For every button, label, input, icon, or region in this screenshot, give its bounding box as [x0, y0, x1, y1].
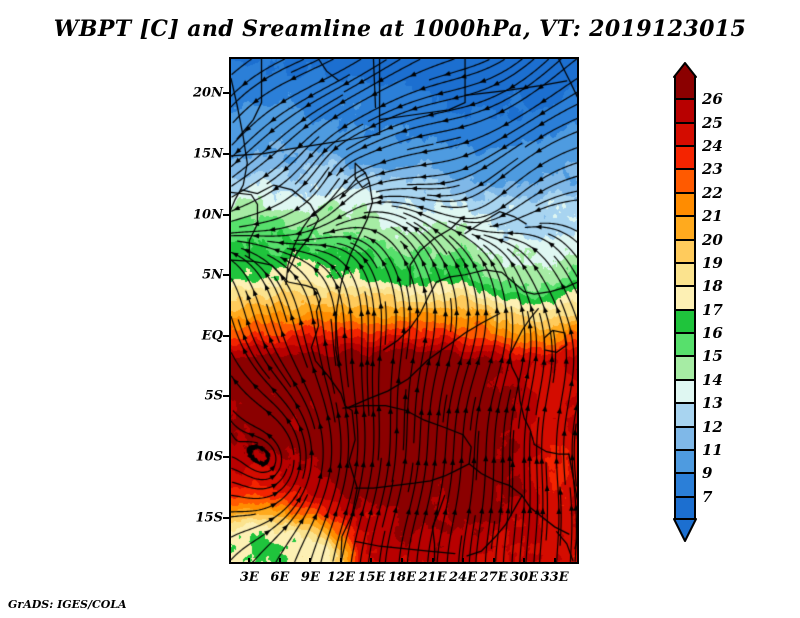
colorbar-tick-label: 7	[702, 488, 712, 506]
y-axis-tick-mark	[223, 517, 229, 519]
x-axis-tick-label: 27E	[480, 570, 508, 585]
colorbar-tick-label: 23	[702, 160, 723, 178]
y-axis-tick-label: 10N	[193, 207, 223, 222]
colorbar-segment	[674, 99, 696, 122]
colorbar-divider	[674, 402, 696, 404]
colorbar-divider	[674, 168, 696, 170]
y-axis-tick-label: 5N	[202, 268, 223, 283]
colorbar-divider	[674, 496, 696, 498]
y-axis-tick-mark	[223, 92, 229, 94]
weather-field-canvas	[231, 59, 577, 562]
y-axis-tick-label: 20N	[193, 86, 223, 101]
colorbar-tick-label: 12	[702, 418, 723, 436]
colorbar-segment	[674, 310, 696, 333]
colorbar-segment	[674, 193, 696, 216]
y-axis-tick-mark	[223, 274, 229, 276]
colorbar-tick-label: 25	[702, 114, 723, 132]
x-axis-tick-label: 21E	[419, 570, 447, 585]
colorbar-tick-label: 17	[702, 301, 723, 319]
x-axis-tick-mark	[309, 558, 311, 564]
colorbar-tick-label: 9	[702, 464, 712, 482]
colorbar-tick-label: 14	[702, 371, 723, 389]
x-axis-tick-mark	[493, 558, 495, 564]
colorbar-tick-label: 16	[702, 324, 723, 342]
colorbar: 2625242322212019181716151413121197	[674, 76, 696, 520]
map-plot-area	[229, 57, 579, 564]
colorbar-tick-label: 21	[702, 207, 723, 225]
colorbar-segment	[674, 76, 696, 99]
credit-text: GrADS: IGES/COLA	[8, 598, 127, 611]
colorbar-segment	[674, 333, 696, 356]
colorbar-tick-label: 13	[702, 394, 723, 412]
x-axis-tick-mark	[554, 558, 556, 564]
colorbar-segment	[674, 356, 696, 379]
colorbar-divider	[674, 449, 696, 451]
y-axis-tick-mark	[223, 214, 229, 216]
colorbar-min-arrow-icon	[672, 518, 698, 542]
colorbar-divider	[674, 472, 696, 474]
colorbar-segment	[674, 263, 696, 286]
colorbar-segment	[674, 473, 696, 496]
colorbar-divider	[674, 215, 696, 217]
colorbar-divider	[674, 239, 696, 241]
x-axis-tick-mark	[340, 558, 342, 564]
x-axis-tick-mark	[370, 558, 372, 564]
y-axis-tick-label: 5S	[205, 389, 223, 404]
colorbar-tick-label: 26	[702, 90, 723, 108]
x-axis-tick-mark	[523, 558, 525, 564]
colorbar-divider	[674, 332, 696, 334]
colorbar-tick-label: 18	[702, 277, 723, 295]
colorbar-divider	[674, 262, 696, 264]
colorbar-segment	[674, 216, 696, 239]
colorbar-tick-label: 22	[702, 184, 723, 202]
colorbar-segment	[674, 497, 696, 520]
colorbar-segment	[674, 286, 696, 309]
x-axis-tick-mark	[248, 558, 250, 564]
x-axis-tick-mark	[462, 558, 464, 564]
colorbar-divider	[674, 379, 696, 381]
x-axis-tick-label: 33E	[541, 570, 569, 585]
y-axis-tick-mark	[223, 395, 229, 397]
colorbar-segment	[674, 169, 696, 192]
y-axis-tick-mark	[223, 335, 229, 337]
colorbar-segment	[674, 427, 696, 450]
x-axis: 3E6E9E12E15E18E21E24E27E30E33E	[229, 564, 575, 584]
y-axis-tick-label: 10S	[196, 449, 223, 464]
colorbar-divider	[674, 192, 696, 194]
x-axis-tick-label: 15E	[357, 570, 385, 585]
colorbar-divider	[674, 309, 696, 311]
colorbar-divider	[674, 355, 696, 357]
y-axis-tick-label: EQ	[202, 328, 223, 343]
colorbar-segment	[674, 146, 696, 169]
y-axis-tick-label: 15S	[196, 510, 223, 525]
colorbar-divider	[674, 98, 696, 100]
colorbar-tick-label: 24	[702, 137, 723, 155]
x-axis-tick-label: 9E	[301, 570, 320, 585]
colorbar-segment	[674, 380, 696, 403]
colorbar-divider	[674, 122, 696, 124]
colorbar-segment	[674, 123, 696, 146]
colorbar-segment	[674, 450, 696, 473]
x-axis-tick-mark	[401, 558, 403, 564]
colorbar-segment	[674, 240, 696, 263]
colorbar-divider	[674, 426, 696, 428]
colorbar-tick-label: 15	[702, 347, 723, 365]
x-axis-tick-mark	[279, 558, 281, 564]
x-axis-tick-label: 24E	[449, 570, 477, 585]
x-axis-tick-label: 12E	[327, 570, 355, 585]
colorbar-tick-label: 11	[702, 441, 723, 459]
x-axis-tick-label: 3E	[240, 570, 259, 585]
colorbar-tick-label: 19	[702, 254, 723, 272]
x-axis-tick-label: 30E	[510, 570, 538, 585]
colorbar-tick-label: 20	[702, 231, 723, 249]
y-axis-tick-mark	[223, 456, 229, 458]
y-axis-tick-label: 15N	[193, 146, 223, 161]
x-axis-tick-mark	[432, 558, 434, 564]
colorbar-divider	[674, 145, 696, 147]
y-axis-tick-mark	[223, 153, 229, 155]
x-axis-tick-label: 6E	[270, 570, 289, 585]
colorbar-divider	[674, 285, 696, 287]
x-axis-tick-label: 18E	[388, 570, 416, 585]
page-title: WBPT [C] and Sreamline at 1000hPa, VT: 2…	[0, 16, 800, 42]
y-axis: 20N15N10N5NEQ5S10S15S	[180, 57, 223, 560]
colorbar-segment	[674, 403, 696, 426]
